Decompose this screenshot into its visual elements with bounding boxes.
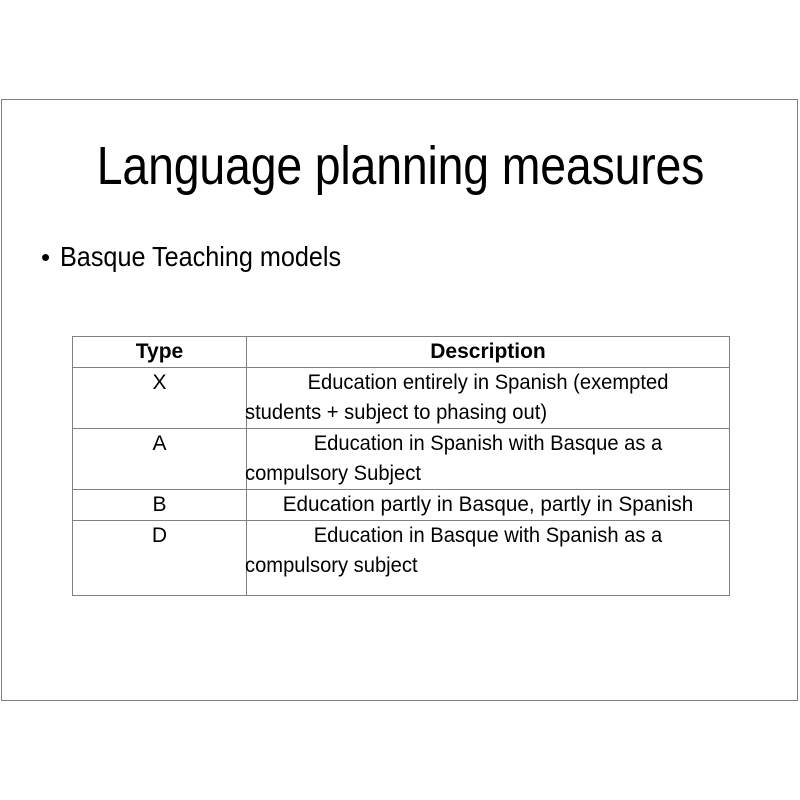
basque-teaching-models-table: Type Description X Education entirely in… [72, 336, 730, 596]
cell-description-value: Education in Basque with Spanish as a co… [247, 521, 730, 596]
description-line-1: Education entirely in Spanish (exempted [257, 368, 720, 398]
cell-description-value: Education partly in Basque, partly in Sp… [247, 490, 730, 521]
cell-type-value: X [73, 368, 247, 429]
description-line-1: Education in Spanish with Basque as a [257, 429, 720, 459]
table-header-row: Type Description [73, 337, 730, 368]
cell-type-value: A [73, 429, 247, 490]
description-line-2: compulsory subject [245, 551, 710, 581]
bullet-item-label: Basque Teaching models [60, 240, 341, 274]
slide-canvas: Language planning measures • Basque Teac… [1, 99, 798, 701]
table-row: X Education entirely in Spanish (exempte… [73, 368, 730, 429]
column-header-description: Description [247, 337, 730, 368]
bullet-list-item: • Basque Teaching models [34, 240, 734, 274]
description-line-1: Education in Basque with Spanish as a [257, 521, 720, 551]
table-row: A Education in Spanish with Basque as a … [73, 429, 730, 490]
column-header-type: Type [73, 337, 247, 368]
cell-description-value: Education entirely in Spanish (exempted … [247, 368, 730, 429]
cell-type-value: B [73, 490, 247, 521]
table-row: D Education in Basque with Spanish as a … [73, 521, 730, 596]
description-line-1: Education partly in Basque, partly in Sp… [251, 490, 726, 520]
table-row: B Education partly in Basque, partly in … [73, 490, 730, 521]
page-title: Language planning measures [58, 136, 743, 196]
cell-type-value: D [73, 521, 247, 596]
description-line-2: students + subject to phasing out) [245, 398, 710, 428]
cell-description-value: Education in Spanish with Basque as a co… [247, 429, 730, 490]
bullet-point-icon: • [34, 240, 60, 274]
description-line-2: compulsory Subject [245, 459, 710, 489]
